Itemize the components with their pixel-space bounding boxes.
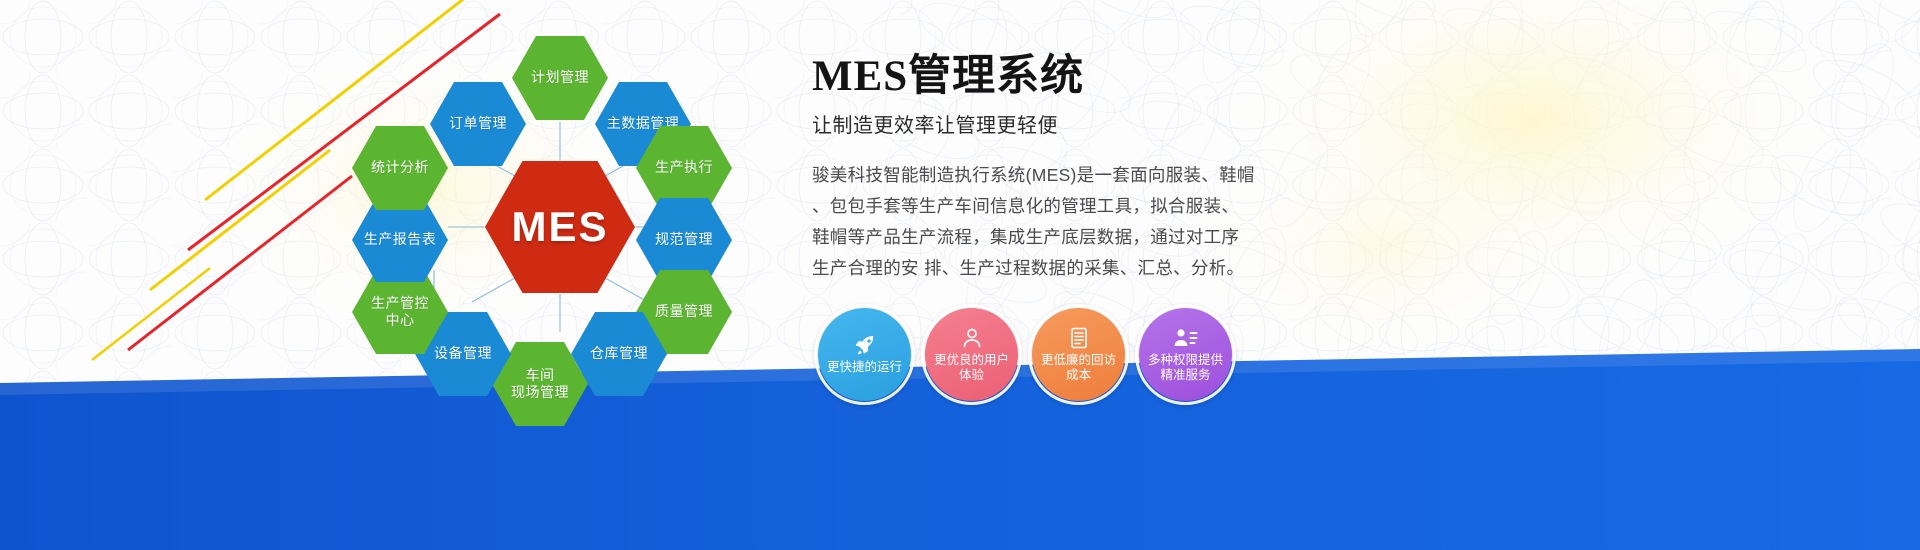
banner-text-column: MES管理系统 让制造更效率让管理更轻便 骏美科技智能制造执行系统(MES)是一… — [812, 52, 1812, 284]
feature-badges: 更快捷的运行 更优良的用户体验 更低廉的回访成本 — [818, 308, 1232, 401]
description-line-1: 、包包手套等生产车间信息化的管理工具，拟合服装、 — [812, 191, 1264, 222]
badge-better-experience-label: 更优良的用户体验 — [928, 353, 1015, 384]
page-subtitle: 让制造更效率让管理更轻便 — [812, 109, 1812, 138]
badge-permissions[interactable]: 多种权限提供精准服务 — [1139, 308, 1232, 401]
hex-node-3-label: 规范管理 — [655, 231, 713, 249]
mes-hexagon-diagram: MES 计划管理 主数据管理 生产执行 规范管理 质量管理 仓库管理 车间现场管… — [330, 12, 790, 442]
document-icon — [1067, 326, 1091, 350]
hex-node-6-label: 车间现场管理 — [511, 367, 569, 402]
badge-lower-cost[interactable]: 更低廉的回访成本 — [1032, 308, 1125, 401]
user-list-icon — [1173, 326, 1199, 350]
badge-permissions-label: 多种权限提供精准服务 — [1142, 353, 1229, 384]
hex-node-11-label: 订单管理 — [449, 115, 507, 133]
badge-lower-cost-label: 更低廉的回访成本 — [1035, 353, 1122, 384]
badge-faster-operation[interactable]: 更快捷的运行 — [818, 308, 911, 401]
hex-node-7-label: 设备管理 — [434, 345, 492, 363]
banner-stage: MES 计划管理 主数据管理 生产执行 规范管理 质量管理 仓库管理 车间现场管… — [0, 0, 1920, 550]
description-line-3: 生产合理的安 排、生产过程数据的采集、汇总、分析。 — [812, 253, 1264, 284]
badge-faster-operation-label: 更快捷的运行 — [821, 360, 908, 375]
hex-node-2-label: 生产执行 — [655, 159, 713, 177]
hex-node-8-label: 生产管控中心 — [371, 295, 429, 330]
description-line-2: 鞋帽等产品生产流程，集成生产底层数据，通过对工序 — [812, 222, 1264, 253]
hex-node-9-label: 生产报告表 — [364, 231, 437, 249]
description-paragraph: 骏美科技智能制造执行系统(MES)是一套面向服装、鞋帽 、包包手套等生产车间信息… — [812, 160, 1264, 284]
hex-node-10-label: 统计分析 — [371, 159, 429, 177]
hex-node-center-label: MES — [511, 201, 608, 254]
hex-node-5-label: 仓库管理 — [590, 345, 648, 363]
page-title: MES管理系统 — [812, 52, 1812, 103]
badge-better-experience[interactable]: 更优良的用户体验 — [925, 308, 1018, 401]
user-icon — [960, 326, 984, 350]
hex-node-4-label: 质量管理 — [655, 303, 713, 321]
hex-node-0-label: 计划管理 — [531, 69, 589, 87]
rocket-icon — [853, 333, 877, 357]
description-line-0: 骏美科技智能制造执行系统(MES)是一套面向服装、鞋帽 — [812, 160, 1264, 191]
